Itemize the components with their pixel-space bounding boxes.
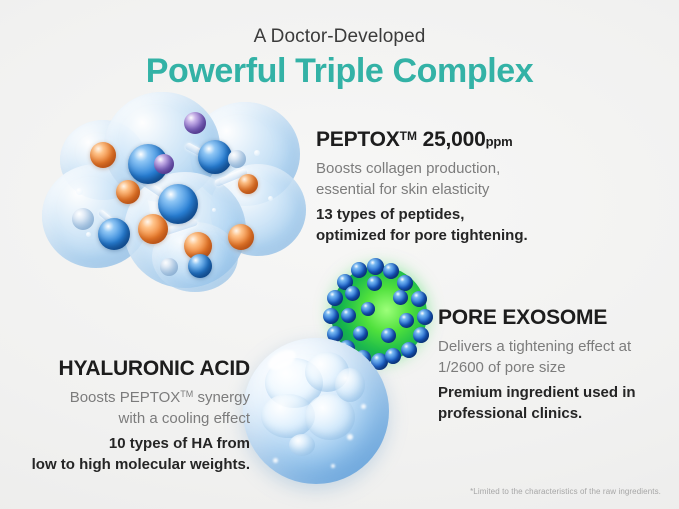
page-title: Powerful Triple Complex (0, 52, 679, 91)
description-line: essential for skin elasticity (316, 179, 576, 200)
exosome-bead (351, 262, 367, 278)
highlight-line: low to high molecular weights. (8, 454, 250, 476)
molecule-speck (76, 188, 83, 195)
ingredient-title-unit: ppm (486, 134, 513, 149)
highlight-line: optimized for pore tightening. (316, 225, 576, 247)
ingredient-description-hyaluronic-acid: Boosts PEPTOXTM synergy with a cooling e… (8, 387, 250, 430)
description-line: Boosts collagen production, (316, 158, 576, 179)
ingredient-title-main: PEPTOX (316, 128, 400, 151)
exosome-bead (361, 302, 375, 316)
molecule-atom (154, 154, 174, 174)
droplet-highlight (361, 404, 366, 409)
infographic-canvas: A Doctor-Developed Powerful Triple Compl… (0, 0, 679, 509)
description-line: Delivers a tightening effect at (438, 336, 670, 357)
exosome-bead (401, 342, 417, 358)
trademark-symbol: TM (180, 389, 193, 399)
molecule-atom (228, 224, 254, 250)
description-line: with a cooling effect (8, 408, 250, 429)
exosome-bead (385, 348, 401, 364)
ingredient-highlight-hyaluronic-acid: 10 types of HA from low to high molecula… (8, 433, 250, 477)
ingredient-title-pore-exosome: PORE EXOSOME (438, 306, 670, 330)
highlight-line: professional clinics. (438, 403, 670, 425)
ingredient-description-pore-exosome: Delivers a tightening effect at 1/2600 o… (438, 336, 670, 379)
description-line-pre: Boosts PEPTOX (70, 389, 181, 406)
exosome-bead (367, 276, 382, 291)
ingredient-title-peptox: PEPTOXTM 25,000ppm (316, 128, 576, 152)
molecule-speck (212, 208, 216, 212)
droplet-highlight (347, 434, 353, 440)
water-droplet-image (243, 338, 389, 484)
exosome-bead (413, 327, 429, 343)
molecule-speck (254, 150, 260, 156)
molecule-atom (90, 142, 116, 168)
exosome-bead (399, 313, 414, 328)
highlight-line: 13 types of peptides, (316, 204, 576, 226)
molecule-cluster-image (42, 92, 307, 292)
molecule-speck (268, 196, 273, 201)
molecule-atom (238, 174, 258, 194)
exosome-bead (345, 286, 360, 301)
ingredient-description-peptox: Boosts collagen production, essential fo… (316, 158, 576, 201)
ingredient-title-hyaluronic-acid: HYALURONIC ACID (8, 357, 250, 381)
description-line: 1/2600 of pore size (438, 357, 670, 378)
ingredient-highlight-peptox: 13 types of peptides, optimized for pore… (316, 204, 576, 248)
molecule-speck (86, 232, 91, 237)
droplet-highlight (331, 464, 335, 468)
droplet-inner-bubble (289, 434, 315, 456)
description-line: Boosts PEPTOXTM synergy (8, 387, 250, 408)
exosome-bead (353, 326, 368, 341)
droplet-highlight (273, 458, 278, 463)
molecule-atom (160, 258, 178, 276)
molecule-atom (198, 140, 232, 174)
exosome-bead (417, 309, 433, 325)
ingredient-block-hyaluronic-acid: HYALURONIC ACID Boosts PEPTOXTM synergy … (8, 357, 250, 476)
exosome-bead (383, 263, 399, 279)
exosome-bead (381, 328, 396, 343)
exosome-bead (341, 308, 356, 323)
molecule-atom (184, 112, 206, 134)
footnote-text: *Limited to the characteristics of the r… (470, 487, 661, 496)
ingredient-highlight-pore-exosome: Premium ingredient used in professional … (438, 382, 670, 426)
exosome-bead (411, 291, 427, 307)
exosome-bead (323, 308, 339, 324)
highlight-line: 10 types of HA from (8, 433, 250, 455)
exosome-bead (397, 275, 413, 291)
exosome-bead (367, 258, 384, 275)
exosome-bead (327, 290, 343, 306)
trademark-symbol: TM (400, 129, 417, 143)
exosome-bead (393, 290, 408, 305)
highlight-line: Premium ingredient used in (438, 382, 670, 404)
molecule-atom (72, 208, 94, 230)
molecule-atom (116, 180, 140, 204)
molecule-atom (138, 214, 168, 244)
molecule-atom (188, 254, 212, 278)
molecule-atom (98, 218, 130, 250)
droplet-inner-bubble (335, 368, 365, 402)
molecule-atom (228, 150, 246, 168)
ingredient-block-peptox: PEPTOXTM 25,000ppm Boosts collagen produ… (316, 128, 576, 247)
description-line-post: synergy (193, 389, 250, 406)
ingredient-block-pore-exosome: PORE EXOSOME Delivers a tightening effec… (438, 306, 670, 425)
eyebrow-text: A Doctor-Developed (0, 26, 679, 48)
ingredient-title-amount: 25,000 (417, 128, 486, 151)
